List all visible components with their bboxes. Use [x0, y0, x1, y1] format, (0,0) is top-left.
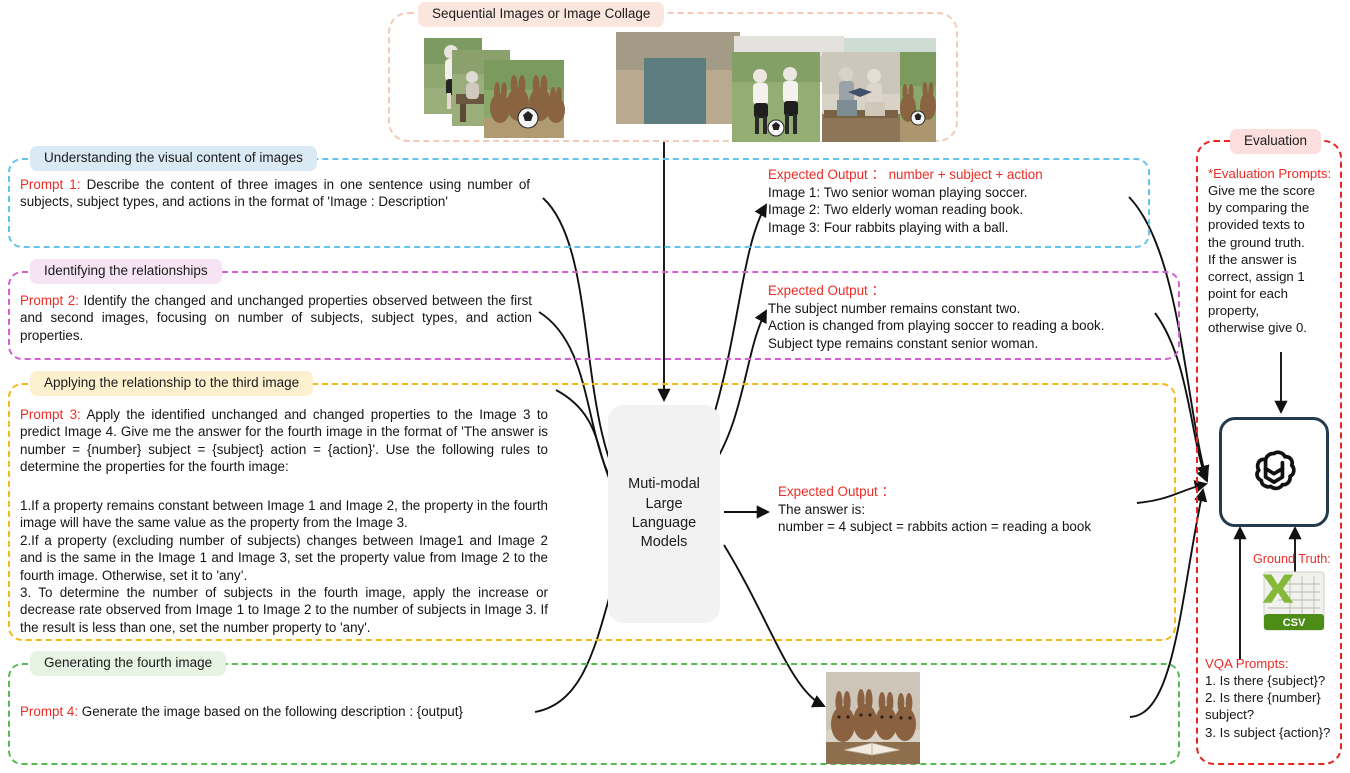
evaluation-prompts-line-5: If the answer is	[1208, 251, 1336, 268]
prompt3-rule-3: 3. To determine the number of subjects i…	[20, 584, 548, 636]
expected-output-1-line-1: Image 1: Two senior woman playing soccer…	[768, 184, 1138, 202]
diagram-canvas: Sequential Images or Image Collage	[0, 0, 1350, 773]
expected-output-2-line-3: Subject type remains constant senior wom…	[768, 335, 1158, 353]
expected-output-3: Expected Output ： The answer is: number …	[778, 483, 1158, 536]
expected-output-2-line-1: The subject number remains constant two.	[768, 300, 1158, 318]
prompt2-text: Prompt 2: Identify the changed and uncha…	[20, 292, 532, 344]
csv-file-icon: CSV	[1262, 570, 1326, 632]
prompt2-title-pill: Identifying the relationships	[30, 259, 222, 284]
prompt4-text: Prompt 4: Generate the image based on th…	[20, 703, 540, 720]
evaluation-prompts-line-9: otherwise give 0.	[1208, 319, 1336, 336]
expected-output-1-line-3: Image 3: Four rabbits playing with a bal…	[768, 219, 1138, 237]
prompt3-label: Prompt 3:	[20, 407, 81, 422]
vqa-prompts: VQA Prompts: 1. Is there {subject}? 2. I…	[1205, 655, 1345, 741]
expected-output-3-line-2: number = 4 subject = rabbits action = re…	[778, 518, 1158, 536]
expected-output-2-heading: Expected Output ：	[768, 282, 1158, 300]
vqa-prompts-heading: VQA Prompts:	[1205, 655, 1345, 672]
expected-output-1: Expected Output ： number + subject + act…	[768, 166, 1138, 237]
prompt1-label: Prompt 1:	[20, 177, 80, 192]
expected-output-2: Expected Output ： The subject number rem…	[768, 282, 1158, 353]
evaluation-title: Evaluation	[1244, 133, 1307, 148]
csv-label: CSV	[1283, 617, 1306, 629]
gpt-model-box[interactable]	[1219, 417, 1329, 527]
vqa-prompts-line-3: subject?	[1205, 706, 1345, 723]
evaluation-prompts-heading: *Evaluation Prompts:	[1208, 165, 1336, 182]
prompt4-label: Prompt 4:	[20, 704, 78, 719]
collage-title-pill: Sequential Images or Image Collage	[418, 2, 664, 27]
prompt3-body: Apply the identified unchanged and chang…	[20, 407, 548, 474]
prompt3-rule-2: 2.If a property (excluding number of sub…	[20, 532, 548, 584]
collage-title: Sequential Images or Image Collage	[432, 6, 650, 21]
openai-icon	[1247, 445, 1301, 499]
evaluation-prompts-line-4: the ground truth.	[1208, 234, 1336, 251]
expected-output-1-line-2: Image 2: Two elderly woman reading book.	[768, 201, 1138, 219]
prompt2-body: Identify the changed and unchanged prope…	[20, 293, 532, 343]
expected-output-3-line-1: The answer is:	[778, 501, 1158, 519]
evaluation-title-pill: Evaluation	[1230, 129, 1321, 154]
mllm-node: Muti-modal Large Language Models	[608, 405, 720, 623]
prompt1-title: Understanding the visual content of imag…	[44, 150, 303, 165]
collage-left-images	[424, 38, 566, 140]
prompt1-body: Describe the content of three images in …	[20, 177, 530, 209]
evaluation-prompts-line-1: Give me the score	[1208, 182, 1336, 199]
ground-truth-label: Ground Truth:	[1253, 552, 1331, 566]
generated-image-rabbits	[826, 672, 920, 764]
prompt2-title: Identifying the relationships	[44, 263, 208, 278]
prompt4-title: Generating the fourth image	[44, 655, 212, 670]
prompt4-title-pill: Generating the fourth image	[30, 651, 226, 676]
collage-right-images	[616, 32, 936, 142]
evaluation-prompts-line-2: by comparing the	[1208, 199, 1336, 216]
prompt2-label: Prompt 2:	[20, 293, 79, 308]
vqa-prompts-line-2: 2. Is there {number}	[1205, 689, 1345, 706]
vqa-prompts-line-1: 1. Is there {subject}?	[1205, 672, 1345, 689]
expected-output-2-line-2: Action is changed from playing soccer to…	[768, 317, 1158, 335]
prompt3-rule-1: 1.If a property remains constant between…	[20, 497, 548, 532]
evaluation-prompts: *Evaluation Prompts: Give me the score b…	[1208, 165, 1336, 337]
prompt3-title-pill: Applying the relationship to the third i…	[30, 371, 313, 396]
expected-output-3-heading: Expected Output ：	[778, 483, 1158, 501]
prompt4-body: Generate the image based on the followin…	[78, 704, 463, 719]
prompt1-title-pill: Understanding the visual content of imag…	[30, 146, 317, 171]
evaluation-prompts-line-7: point for each	[1208, 285, 1336, 302]
evaluation-prompts-line-6: correct, assign 1	[1208, 268, 1336, 285]
evaluation-prompts-line-8: property,	[1208, 302, 1336, 319]
prompt3-text: Prompt 3: Apply the identified unchanged…	[20, 406, 548, 476]
mllm-label: Muti-modal Large Language Models	[628, 475, 700, 552]
expected-output-1-heading: Expected Output ： number + subject + act…	[768, 166, 1138, 184]
evaluation-prompts-line-3: provided texts to	[1208, 216, 1336, 233]
prompt3-title: Applying the relationship to the third i…	[44, 375, 299, 390]
prompt1-text: Prompt 1: Describe the content of three …	[20, 176, 530, 211]
vqa-prompts-line-4: 3. Is subject {action}?	[1205, 724, 1345, 741]
